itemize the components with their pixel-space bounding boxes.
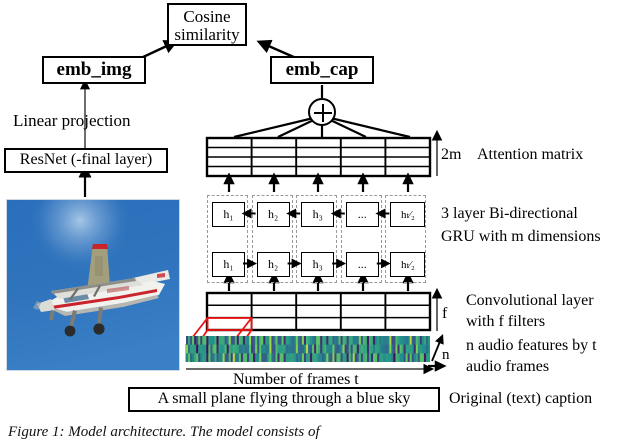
gru-timestep-group: ... ... [341,195,382,283]
frames-axis-label: Number of frames t [233,371,359,389]
gru-cell-forward[interactable]: h₃ [301,252,334,277]
sum-operator-node[interactable] [308,98,336,126]
cosine-similarity-line2: similarity [169,26,245,44]
attention-matrix-grid [207,138,430,176]
gru-timestep-group: h₁ h₁ [207,195,248,283]
gru-description-line1: 3 layer Bi-directional [441,205,578,223]
original-caption-node[interactable]: A small plane flying through a blue sky [128,387,440,412]
gru-cell-label: h₃ [313,207,323,222]
spectrogram [186,336,430,362]
original-caption-label: Original (text) caption [449,390,592,408]
conv-description-line1: Convolutional layer [466,292,594,310]
gru-cell-backward[interactable]: hₜ⁄₂ [390,202,425,227]
gru-cell-label: hₜ⁄₂ [401,208,415,221]
attention-matrix-label: Attention matrix [477,146,583,164]
conv-layer-grid [207,293,430,330]
gru-cell-label: ... [358,257,367,272]
airplane-illustration [7,200,180,371]
gru-cell-label: ... [358,207,367,222]
gru-cell-backward[interactable]: h₃ [301,202,334,227]
gru-cell-forward[interactable]: h₂ [257,252,290,277]
gru-to-attention-arrows [229,179,408,192]
gru-cell-label: h₁ [223,257,233,272]
gru-timestep-group: hₜ⁄₂ hₜ⁄₂ [385,195,426,283]
spectrogram-height-measure [432,339,441,361]
spectrogram-canvas [186,336,430,362]
gru-cell-label: hₜ⁄₂ [401,258,415,271]
attention-height-label: 2m [441,146,461,164]
cosine-similarity-line1: Cosine [169,8,245,26]
gru-cell-backward[interactable]: h₂ [257,202,290,227]
gru-cell-backward[interactable]: ... [346,202,379,227]
input-image-photo [6,199,180,371]
gru-block: h₁ h₁ h₂ h₂ h₃ h₃ ... ... hₜ⁄₂ hₜ⁄₂ [206,195,432,283]
gru-cell-label: h₃ [313,257,323,272]
figure-caption: Figure 1: Model architecture. The model … [8,424,630,441]
figure-canvas: Cosine similarity emb_img emb_cap ResNet… [0,0,630,444]
linear-projection-label: Linear projection [13,111,131,130]
spectrogram-description-line2: audio frames [466,358,549,376]
resnet-node[interactable]: ResNet (-final layer) [4,148,168,173]
gru-timestep-group: h₂ h₂ [252,195,293,283]
gru-cell-forward[interactable]: ... [346,252,379,277]
spectrogram-height-label: n [442,347,450,364]
gru-description-line2: GRU with m dimensions [441,228,601,246]
gru-cell-backward[interactable]: h₁ [212,202,245,227]
emb-cap-node[interactable]: emb_cap [270,56,374,84]
gru-cell-label: h₂ [268,257,278,272]
emb-img-node[interactable]: emb_img [42,56,146,84]
conv-description-line2: with f filters [466,313,545,331]
conv-height-label: f [442,305,447,323]
gru-cell-label: h₂ [268,207,278,222]
plus-icon [310,100,334,124]
gru-cell-forward[interactable]: hₜ⁄₂ [390,252,425,277]
spectrogram-description-line1: n audio features by t [466,337,597,355]
gru-cell-label: h₁ [223,207,233,222]
gru-timestep-group: h₃ h₃ [296,195,337,283]
cosine-similarity-node[interactable]: Cosine similarity [167,3,247,46]
gru-cell-forward[interactable]: h₁ [212,252,245,277]
